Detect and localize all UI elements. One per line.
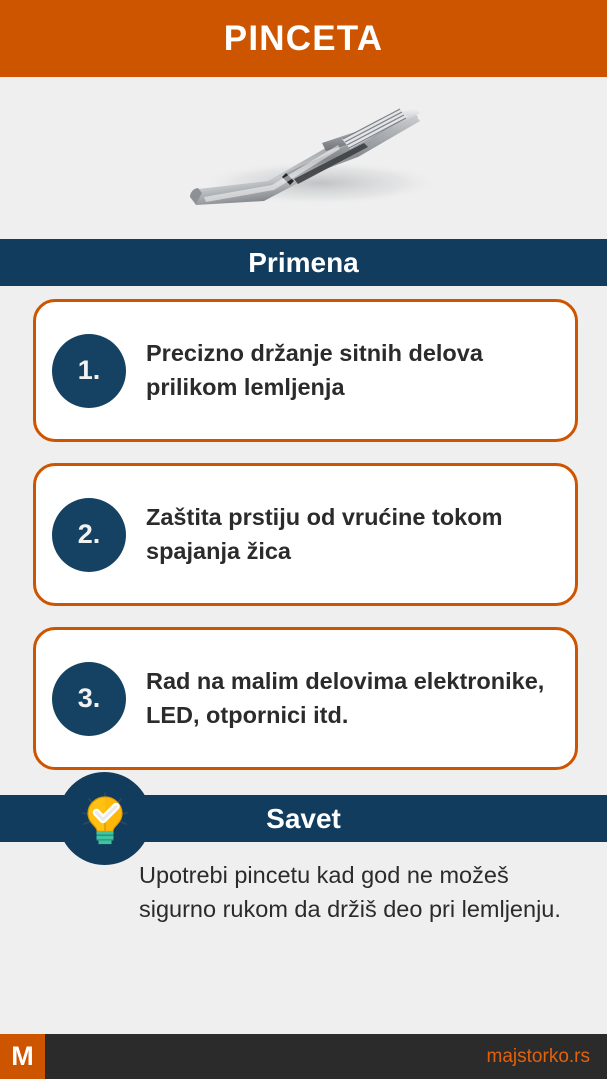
footer-bar: M majstorko.rs [0,1034,607,1079]
usage-section-heading: Primena [248,249,359,277]
tip-section: Savet [0,795,607,926]
list-item: 1. Precizno držanje sitnih delova prilik… [33,299,578,442]
list-item: 2. Zaštita prstiju od vrućine tokom spaj… [33,463,578,606]
list-item: 3. Rad na malim delovima elektronike, LE… [33,627,578,770]
page-title: PINCETA [224,21,383,56]
item-text: Zaštita prstiju od vrućine tokom spajanj… [146,501,561,568]
item-text: Precizno držanje sitnih delova prilikom … [146,337,561,404]
lightbulb-check-icon [76,790,134,848]
item-number-badge: 1. [52,334,126,408]
footer-website: majstorko.rs [487,1047,607,1066]
tip-text: Upotrebi pincetu kad god ne možeš sigurn… [139,858,577,926]
item-number-badge: 2. [52,498,126,572]
hero-image-area [0,77,607,239]
usage-section-banner: Primena [0,239,607,286]
usage-card-list: 1. Precizno držanje sitnih delova prilik… [0,286,607,791]
title-banner: PINCETA [0,0,607,77]
tip-icon-badge [58,772,151,865]
brand-logo: M [0,1034,45,1079]
tip-section-heading: Savet [266,805,341,833]
item-number-badge: 3. [52,662,126,736]
tweezers-photo [168,85,448,230]
infographic-root: PINCETA [0,0,607,1079]
item-text: Rad na malim delovima elektronike, LED, … [146,665,561,732]
